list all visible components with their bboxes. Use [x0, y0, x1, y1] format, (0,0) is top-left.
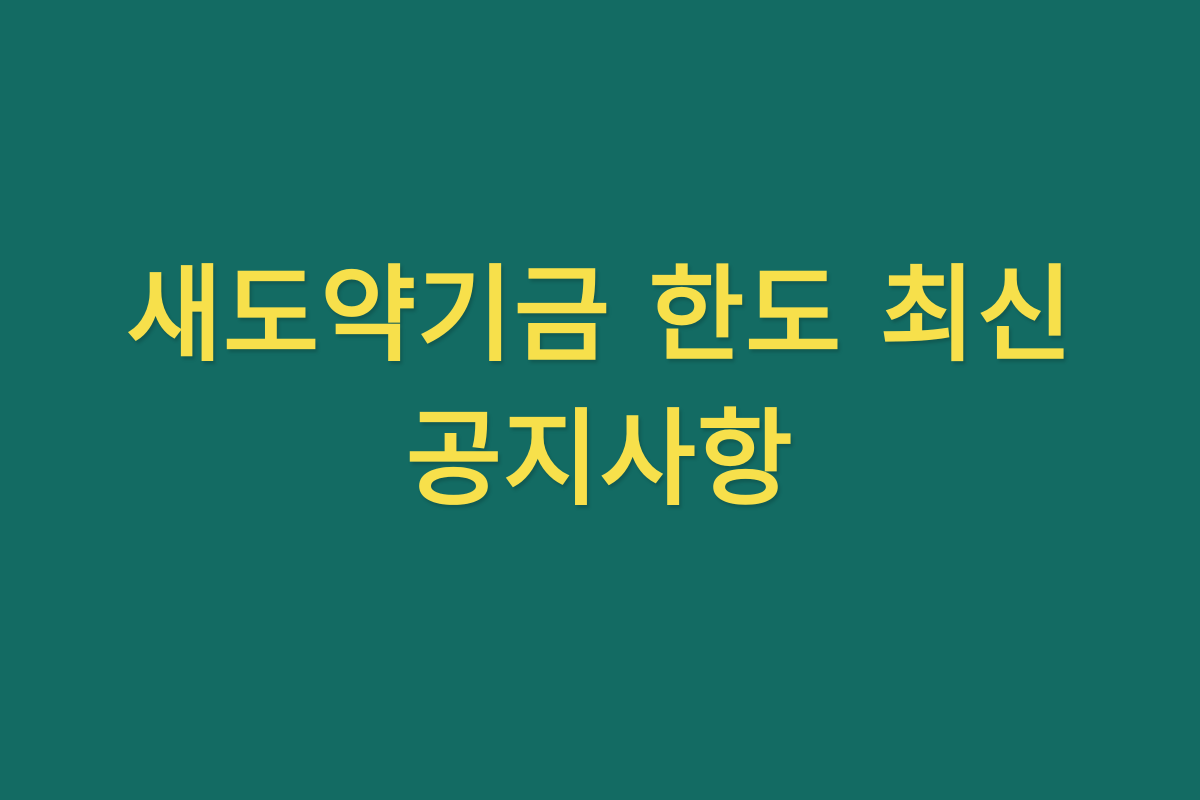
page-title: 새도약기금 한도 최신 공지사항: [120, 244, 1080, 531]
banner-background: 새도약기금 한도 최신 공지사항: [0, 0, 1200, 800]
title-line-1: 새도약기금 한도 최신: [120, 244, 1080, 388]
title-line-2: 공지사항: [120, 388, 1080, 532]
